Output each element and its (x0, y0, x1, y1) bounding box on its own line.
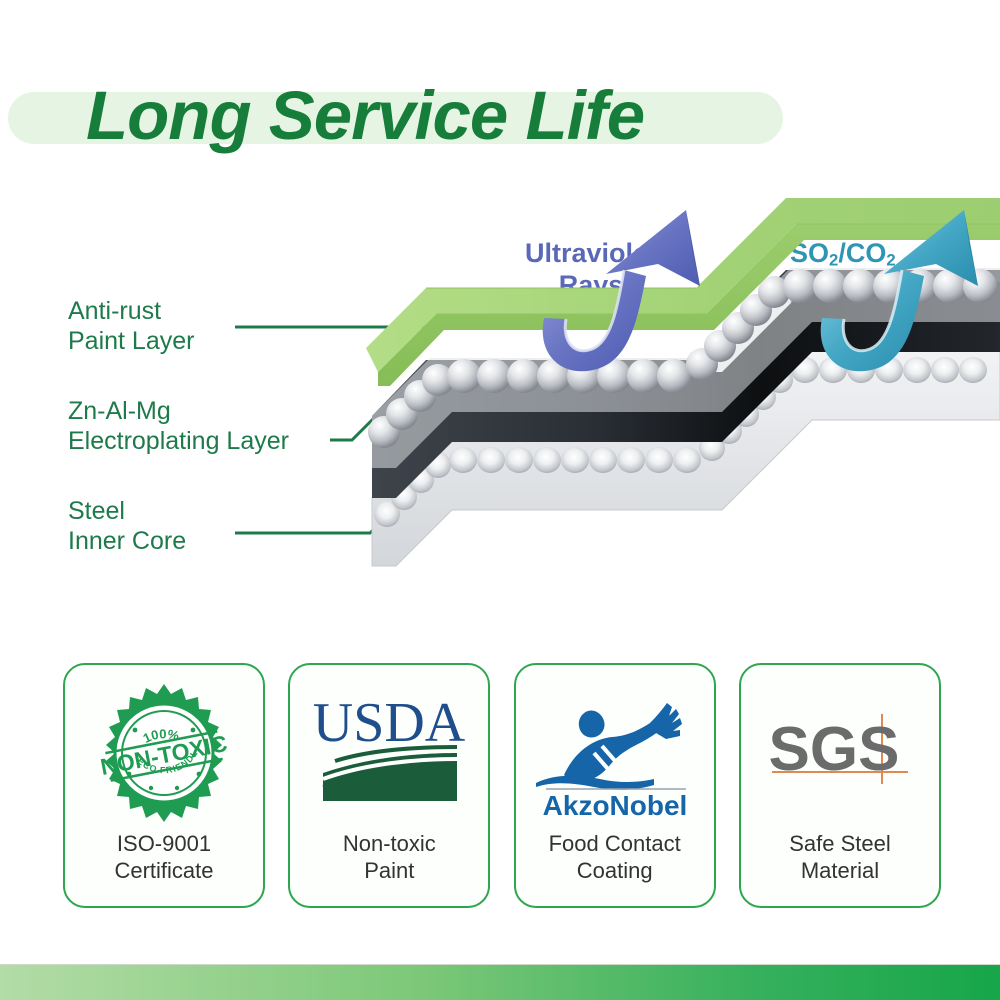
certificate-card-akzonobel[interactable]: AkzoNobel Food Contact Coating (514, 663, 716, 908)
infographic-page: Long Service Life Anti-rust Paint Layer … (0, 0, 1000, 1000)
certificate-label-line2: Coating (549, 857, 681, 884)
certificate-label: Safe Steel Material (783, 830, 897, 884)
non-toxic-stamp-icon: 100% ECO FRIENDLY NON-TOXIC (65, 675, 263, 830)
akzonobel-figure-icon (536, 703, 682, 790)
certificate-label: Food Contact Coating (543, 830, 687, 884)
akzonobel-wordmark: AkzoNobel (542, 790, 687, 821)
certificate-label: Non-toxic Paint (337, 830, 442, 884)
certificate-card-sgs[interactable]: SGS Safe Steel Material (739, 663, 941, 908)
certificate-label-line2: Paint (343, 857, 436, 884)
sgs-logo-icon: SGS (741, 675, 939, 830)
certificate-card-list: 100% ECO FRIENDLY NON-TOXIC (63, 663, 941, 908)
certificate-card-iso-9001[interactable]: 100% ECO FRIENDLY NON-TOXIC (63, 663, 265, 908)
certificate-label: ISO-9001 Certificate (108, 830, 219, 884)
certificate-label-line2: Material (789, 857, 891, 884)
akzonobel-logo-icon: AkzoNobel (516, 675, 714, 830)
page-title: Long Service Life (86, 72, 644, 160)
title-area: Long Service Life (0, 72, 1000, 162)
certificate-label-line1: ISO-9001 (114, 830, 213, 857)
certificate-label-line1: Safe Steel (789, 830, 891, 857)
certificate-label-line2: Certificate (114, 857, 213, 884)
layer-cross-section-diagram (0, 190, 1000, 620)
usda-logo-icon: USDA (290, 675, 488, 830)
usda-wordmark: USDA (313, 692, 466, 754)
bottom-accent-bar (0, 964, 1000, 1000)
certificate-label-line1: Food Contact (549, 830, 681, 857)
certificate-card-usda[interactable]: USDA Non-toxic Paint (288, 663, 490, 908)
sgs-wordmark: SGS (769, 715, 900, 784)
certificate-label-line1: Non-toxic (343, 830, 436, 857)
